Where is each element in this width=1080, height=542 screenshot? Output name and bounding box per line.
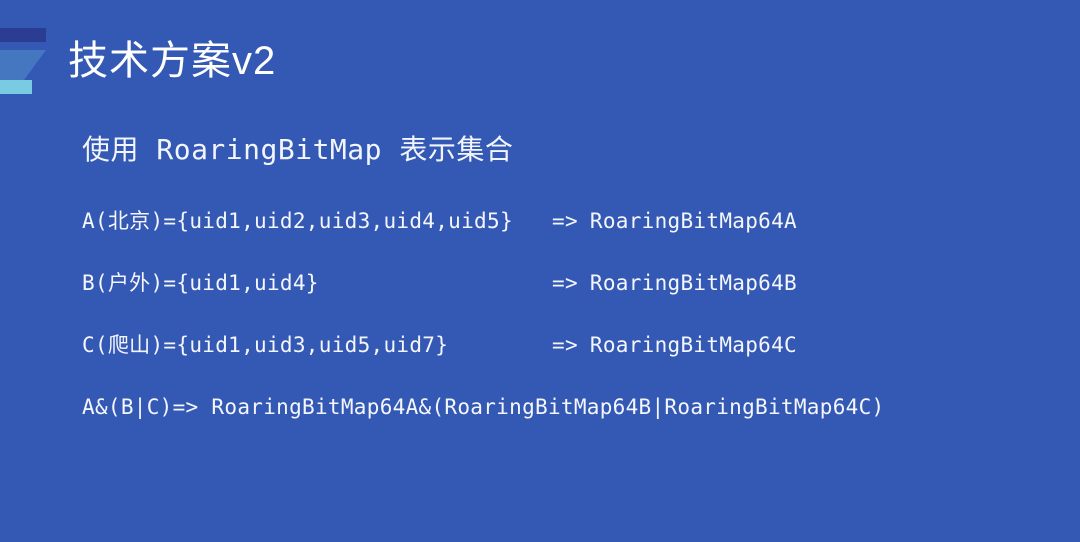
equation-set-definition: B(户外)={uid1,uid4}: [82, 268, 552, 298]
equation-row-result: A&(B|C)=> RoaringBitMap64A&(RoaringBitMa…: [82, 392, 1040, 422]
maps-to-arrow-icon: =>: [552, 206, 578, 236]
slide-body: 使用 RoaringBitMap 表示集合 A(北京)={uid1,uid2,u…: [82, 130, 1040, 422]
equation-bitmap-name: RoaringBitMap64C: [590, 330, 797, 360]
page-title: 技术方案v2: [68, 33, 276, 89]
layered-triangle-logo-icon: [0, 28, 52, 100]
slide-canvas: 技术方案v2 使用 RoaringBitMap 表示集合 A(北京)={uid1…: [0, 0, 1080, 542]
equation-row: A(北京)={uid1,uid2,uid3,uid4,uid5} => Roar…: [82, 206, 1040, 236]
equation-set-definition: C(爬山)={uid1,uid3,uid5,uid7}: [82, 330, 552, 360]
equation-bitmap-name: RoaringBitMap64A: [590, 206, 797, 236]
equation-bitmap-name: RoaringBitMap64B: [590, 268, 797, 298]
maps-to-arrow-icon: =>: [552, 268, 578, 298]
equation-set-definition: A(北京)={uid1,uid2,uid3,uid4,uid5}: [82, 206, 552, 236]
equation-row: C(爬山)={uid1,uid3,uid5,uid7} => RoaringBi…: [82, 330, 1040, 360]
maps-to-arrow-icon: =>: [552, 330, 578, 360]
body-subtitle: 使用 RoaringBitMap 表示集合: [82, 130, 1040, 170]
equation-row: B(户外)={uid1,uid4} => RoaringBitMap64B: [82, 268, 1040, 298]
result-expression: A&(B|C)=> RoaringBitMap64A&(RoaringBitMa…: [82, 395, 884, 419]
equation-list: A(北京)={uid1,uid2,uid3,uid4,uid5} => Roar…: [82, 206, 1040, 422]
